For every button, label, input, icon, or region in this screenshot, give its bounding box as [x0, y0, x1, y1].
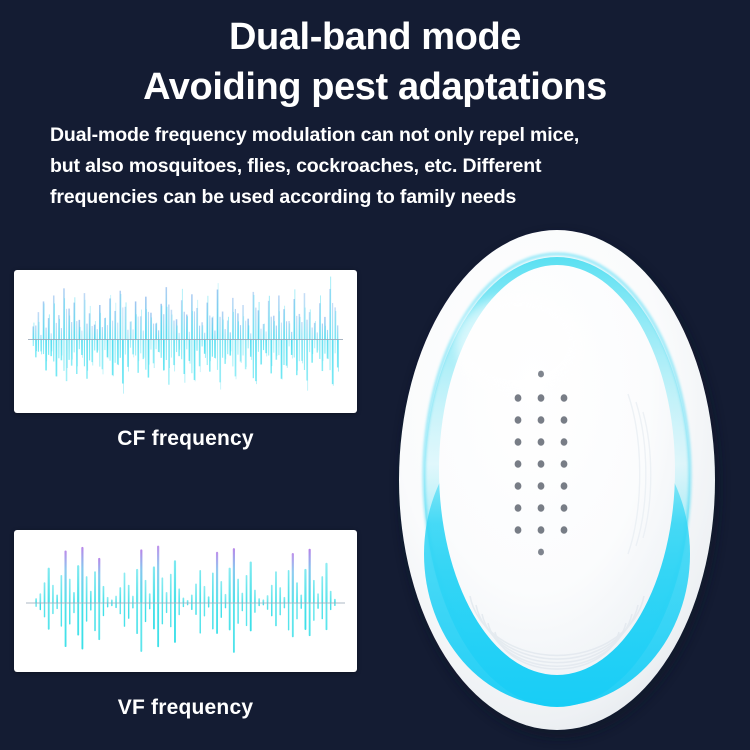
- vf-spike-down: [242, 603, 243, 611]
- vf-spike: [313, 580, 315, 603]
- description-line-2: but also mosquitoes, flies, cockroaches,…: [50, 151, 710, 182]
- vf-spike-down: [107, 603, 108, 607]
- vf-spike-down: [191, 603, 192, 610]
- vf-spike: [250, 562, 252, 603]
- speaker-hole: [538, 394, 545, 402]
- vf-spike-down: [216, 603, 218, 634]
- vf-spike: [304, 569, 306, 603]
- vf-spike-down: [322, 603, 323, 619]
- vf-spike: [166, 592, 168, 603]
- vf-spike-down: [153, 603, 155, 629]
- speaker-hole: [515, 416, 522, 424]
- vf-spike-down: [136, 603, 138, 634]
- vf-spike-down: [271, 603, 272, 616]
- vf-spike: [317, 593, 319, 603]
- vf-spike-down: [284, 603, 285, 608]
- vf-spike: [132, 596, 134, 603]
- vf-spike-down: [233, 603, 235, 653]
- vf-spike-down: [157, 603, 159, 647]
- vf-spike: [136, 569, 138, 603]
- vf-spike: [35, 598, 37, 603]
- vf-spike: [199, 570, 201, 603]
- speaker-hole: [515, 394, 522, 402]
- vf-spike: [183, 598, 185, 603]
- page-title: Dual-band mode Avoiding pest adaptations: [0, 12, 750, 112]
- vf-spike-down: [301, 603, 302, 609]
- speaker-hole: [561, 438, 568, 446]
- vf-spike: [284, 597, 286, 603]
- vf-spike: [73, 592, 75, 603]
- vf-spike: [220, 581, 222, 603]
- vf-spike: [309, 549, 311, 603]
- description-line-1: Dual-mode frequency modulation can not o…: [50, 120, 710, 151]
- vf-spike-down: [44, 603, 45, 617]
- vf-spike: [44, 582, 46, 603]
- vf-spike-down: [56, 603, 57, 609]
- vf-spike: [325, 563, 327, 603]
- vf-spike: [178, 588, 180, 603]
- vf-spike-down: [326, 603, 328, 630]
- vf-spike: [174, 560, 176, 603]
- vf-spike: [90, 591, 92, 603]
- speaker-hole: [538, 371, 544, 378]
- vf-spike: [103, 586, 105, 603]
- vf-spike: [258, 598, 260, 603]
- speaker-hole: [515, 526, 522, 534]
- cf-wave-bars: [33, 277, 339, 394]
- vf-spike: [330, 591, 332, 603]
- vf-spike: [300, 594, 302, 603]
- headline-line-2: Avoiding pest adaptations: [0, 62, 750, 112]
- vf-spike: [267, 595, 269, 603]
- vf-spike-down: [309, 603, 311, 636]
- vf-spike: [241, 593, 243, 603]
- vf-spike: [191, 594, 193, 603]
- vf-spike: [204, 586, 206, 603]
- vf-spike: [107, 597, 109, 603]
- ultrasonic-pest-repeller-device: [390, 224, 724, 736]
- vf-spike-down: [128, 603, 129, 619]
- vf-spike-down: [178, 603, 179, 615]
- vf-spike-down: [90, 603, 91, 611]
- vf-spike-down: [166, 603, 167, 613]
- speaker-hole: [515, 460, 522, 468]
- vf-spike-down: [317, 603, 318, 609]
- headline-line-1: Dual-band mode: [229, 16, 521, 58]
- speaker-hole: [538, 526, 545, 534]
- vf-spike: [216, 552, 218, 603]
- vf-spike: [237, 579, 239, 603]
- cf-waveform-panel: [14, 270, 357, 413]
- vf-spike-down: [69, 603, 70, 625]
- cf-frequency-label: CF frequency: [14, 427, 357, 451]
- vf-spike-down: [86, 603, 87, 622]
- vf-spike-down: [48, 603, 50, 630]
- vf-spike: [128, 585, 130, 603]
- vf-spike-down: [195, 603, 196, 615]
- vf-spike: [52, 585, 54, 603]
- vf-spike-down: [174, 603, 176, 643]
- vf-spike-down: [170, 603, 171, 627]
- vf-spike-down: [52, 603, 53, 614]
- vf-spike-down: [61, 603, 62, 627]
- vf-spike-down: [65, 603, 67, 647]
- speaker-hole: [515, 438, 522, 446]
- vf-spike: [115, 596, 117, 603]
- vf-spike-down: [279, 603, 280, 615]
- vf-spike-down: [140, 603, 142, 652]
- vf-spike: [140, 549, 142, 603]
- vf-spike-down: [330, 603, 331, 610]
- vf-spike-down: [208, 603, 209, 608]
- vf-spike: [61, 575, 63, 603]
- vf-spike: [225, 594, 227, 603]
- vf-spike: [321, 576, 323, 603]
- vf-spike: [77, 565, 79, 603]
- vf-spike-down: [40, 603, 41, 610]
- vf-spike-down: [305, 603, 307, 630]
- vf-spike-down: [229, 603, 231, 630]
- vf-spike-down: [183, 603, 184, 607]
- vf-spike-down: [313, 603, 314, 621]
- vf-spike-down: [98, 603, 100, 640]
- vf-spike-down: [103, 603, 104, 616]
- speaker-hole: [538, 416, 545, 424]
- vf-spike-down: [132, 603, 133, 609]
- vf-spike: [254, 590, 256, 603]
- vf-spike-down: [200, 603, 201, 634]
- product-infographic: Dual-band mode Avoiding pest adaptations…: [0, 0, 750, 750]
- vf-spike-down: [275, 603, 276, 626]
- vf-spike: [292, 553, 294, 603]
- description-paragraph: Dual-mode frequency modulation can not o…: [50, 120, 710, 213]
- vf-spike: [98, 558, 100, 603]
- vf-spike: [233, 548, 235, 603]
- vf-spike: [195, 583, 197, 603]
- vf-spike-down: [292, 603, 294, 637]
- vf-spike: [153, 566, 155, 603]
- vf-spike-down: [120, 603, 121, 614]
- description-line-3: frequencies can be used according to fam…: [50, 182, 710, 213]
- vf-spike-down: [77, 603, 79, 636]
- vf-spike-down: [204, 603, 205, 616]
- vf-spike-down: [81, 603, 83, 649]
- vf-spike-down: [212, 603, 213, 629]
- speaker-hole: [538, 460, 545, 468]
- cf-waveform-chart: [14, 270, 357, 413]
- vf-waveform-panel: [14, 530, 357, 672]
- speaker-hole: [561, 394, 568, 402]
- speaker-hole: [538, 438, 545, 446]
- vf-spike: [119, 587, 121, 603]
- vf-spike: [39, 593, 41, 603]
- vf-spike: [275, 571, 277, 603]
- vf-spike-down: [94, 603, 95, 631]
- device-highlight: [456, 296, 580, 392]
- vf-spike-down: [124, 603, 125, 627]
- speaker-hole: [515, 504, 522, 512]
- vf-spike: [170, 574, 172, 603]
- vf-spike: [334, 599, 336, 603]
- vf-spike: [94, 571, 96, 603]
- vf-spike: [246, 575, 248, 603]
- speaker-hole: [561, 482, 568, 490]
- vf-spike: [149, 593, 151, 603]
- speaker-hole: [538, 504, 545, 512]
- vf-spike: [288, 570, 290, 603]
- vf-spike-down: [162, 603, 163, 624]
- speaker-hole: [561, 526, 568, 534]
- speaker-hole: [538, 549, 544, 556]
- vf-spike-down: [254, 603, 255, 613]
- vf-spike: [157, 546, 159, 603]
- vf-wave-bars: [35, 546, 335, 653]
- speaker-hole: [538, 482, 545, 490]
- vf-spike-down: [115, 603, 116, 608]
- vf-spike-down: [267, 603, 268, 610]
- vf-spike: [212, 573, 214, 604]
- speaker-hole: [515, 482, 522, 490]
- vf-spike-down: [221, 603, 222, 618]
- vf-spike: [296, 582, 298, 603]
- vf-spike-down: [237, 603, 238, 624]
- vf-spike: [271, 585, 273, 603]
- vf-spike: [162, 577, 164, 603]
- speaker-hole: [561, 460, 568, 468]
- vf-spike: [124, 573, 126, 604]
- vf-spike: [69, 579, 71, 603]
- speaker-hole: [561, 504, 568, 512]
- vf-spike-down: [296, 603, 297, 619]
- vf-spike-down: [35, 603, 36, 607]
- vf-spike: [208, 596, 210, 603]
- vf-spike: [279, 587, 281, 603]
- vf-frequency-label: VF frequency: [14, 696, 357, 720]
- vf-spike: [48, 568, 50, 603]
- vf-spike: [56, 594, 58, 603]
- vf-spike-down: [73, 603, 74, 613]
- vf-spike: [86, 576, 88, 603]
- vf-spike-down: [225, 603, 226, 608]
- vf-spike: [64, 551, 66, 603]
- vf-spike: [81, 547, 83, 603]
- vf-spike-down: [288, 603, 289, 631]
- vf-spike-down: [149, 603, 150, 609]
- vf-spike: [145, 580, 147, 603]
- vf-spike-down: [246, 603, 247, 626]
- vf-spike-down: [250, 603, 252, 631]
- speaker-hole: [561, 416, 568, 424]
- vf-spike-down: [145, 603, 146, 622]
- vf-spike: [229, 568, 231, 603]
- vf-waveform-chart: [14, 530, 357, 672]
